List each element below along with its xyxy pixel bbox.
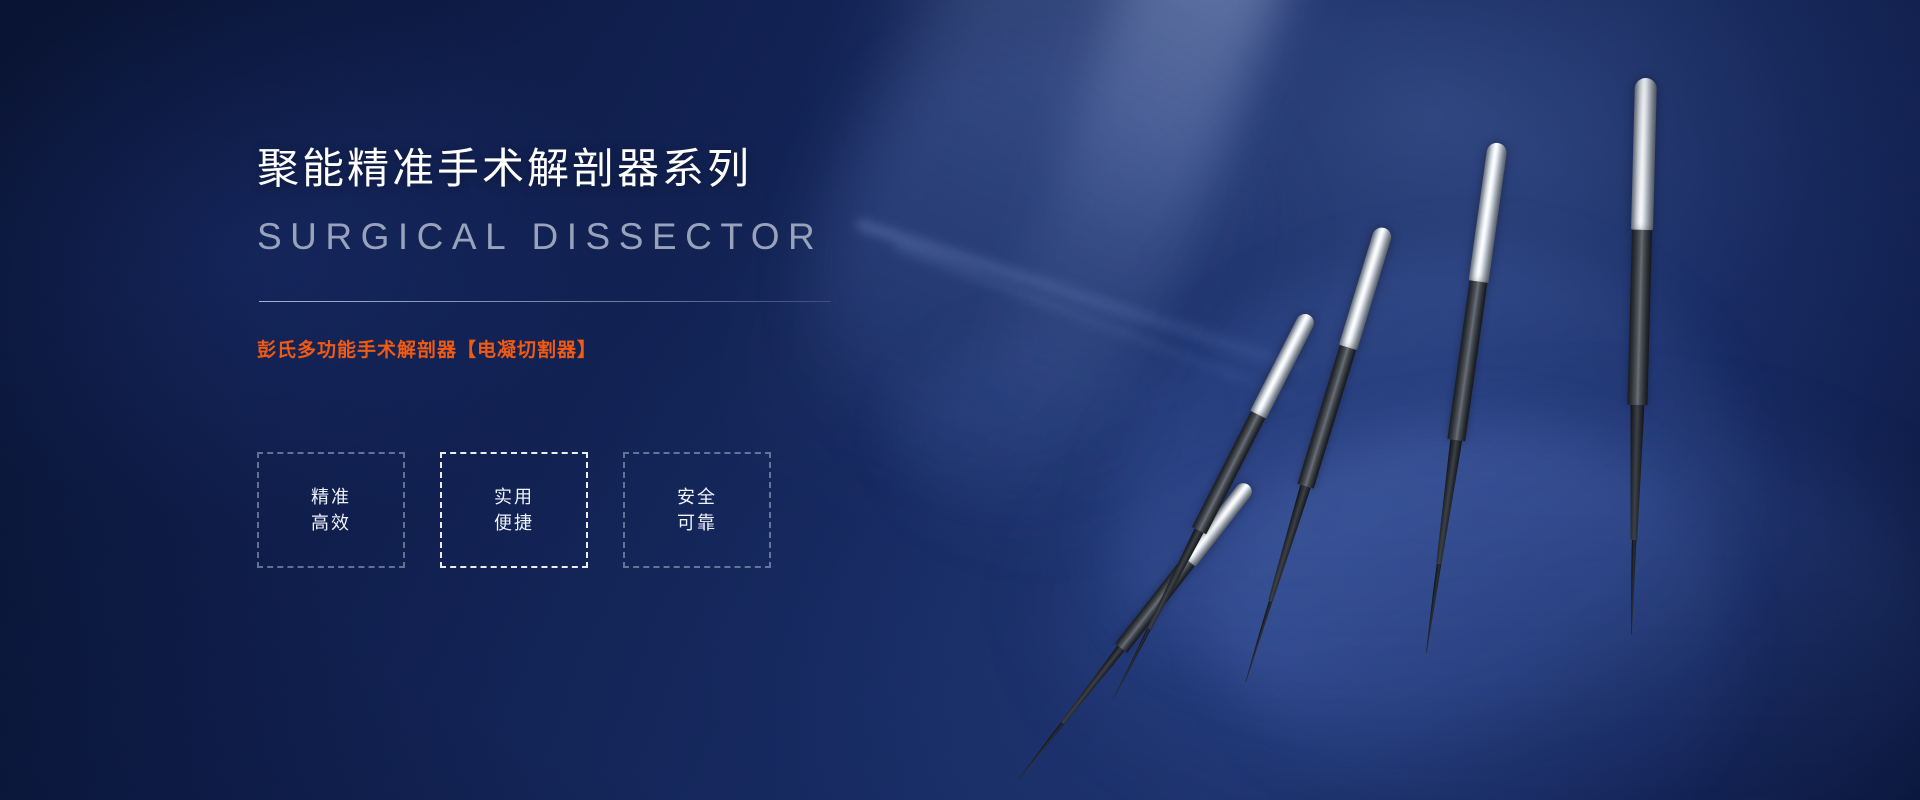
- page-title: 聚能精准手术解剖器系列: [257, 148, 752, 190]
- product-tagline: 彭氏多功能手术解剖器【电凝切割器】: [257, 341, 597, 360]
- feature-box-group: 精准 高效 实用 便捷 安全 可靠: [257, 452, 771, 568]
- hero-banner: 聚能精准手术解剖器系列 SURGICAL DISSECTOR 彭氏多功能手术解剖…: [0, 0, 1920, 800]
- feature-box-practical[interactable]: 实用 便捷: [440, 452, 588, 568]
- feature-label-line1: 安全: [677, 488, 717, 506]
- feature-label-line2: 可靠: [677, 514, 717, 532]
- feature-label-line2: 便捷: [494, 514, 534, 532]
- banner-content: 聚能精准手术解剖器系列 SURGICAL DISSECTOR 彭氏多功能手术解剖…: [257, 0, 877, 800]
- feature-box-precision[interactable]: 精准 高效: [257, 452, 405, 568]
- feature-label-line2: 高效: [311, 514, 351, 532]
- divider: [259, 301, 831, 302]
- page-subtitle-english: SURGICAL DISSECTOR: [257, 218, 823, 255]
- feature-box-safety[interactable]: 安全 可靠: [623, 452, 771, 568]
- feature-label-line1: 实用: [494, 488, 534, 506]
- feature-label-line1: 精准: [311, 488, 351, 506]
